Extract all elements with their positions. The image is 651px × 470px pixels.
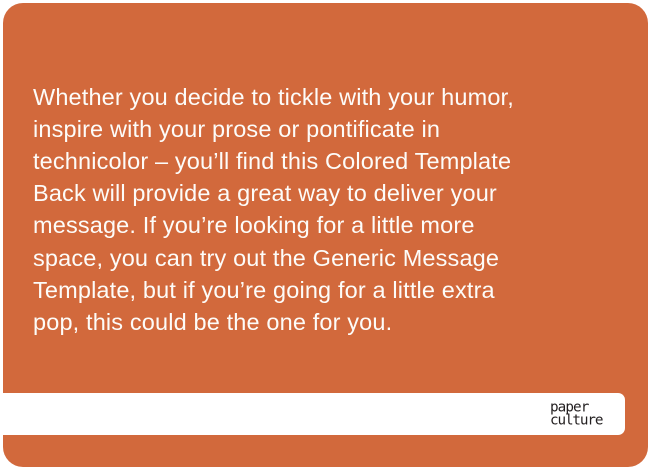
colored-template-back-card: Whether you decide to tickle with your h… bbox=[3, 3, 648, 467]
brand-logo-line-culture: culture bbox=[550, 414, 602, 427]
footer-white-band: paper culture bbox=[3, 393, 625, 435]
message-body-text: Whether you decide to tickle with your h… bbox=[33, 81, 603, 339]
paper-culture-logo: paper culture bbox=[550, 402, 601, 427]
